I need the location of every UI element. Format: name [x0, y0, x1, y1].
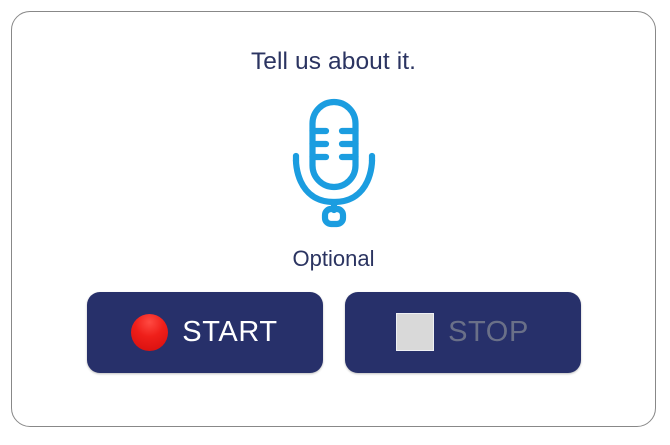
page-title: Tell us about it. [251, 50, 416, 75]
optional-label: Optional [293, 248, 375, 270]
stop-square-icon [396, 313, 434, 351]
voice-recorder-card: Tell us about it. [11, 11, 656, 427]
start-button-label: START [182, 318, 277, 347]
stop-button[interactable]: STOP [345, 292, 581, 373]
microphone-icon [274, 97, 394, 229]
stop-button-label: STOP [448, 318, 529, 347]
screen-root: Tell us about it. [0, 0, 670, 445]
recording-controls: START STOP [87, 292, 581, 373]
record-dot-icon [131, 314, 168, 351]
start-button[interactable]: START [87, 292, 323, 373]
